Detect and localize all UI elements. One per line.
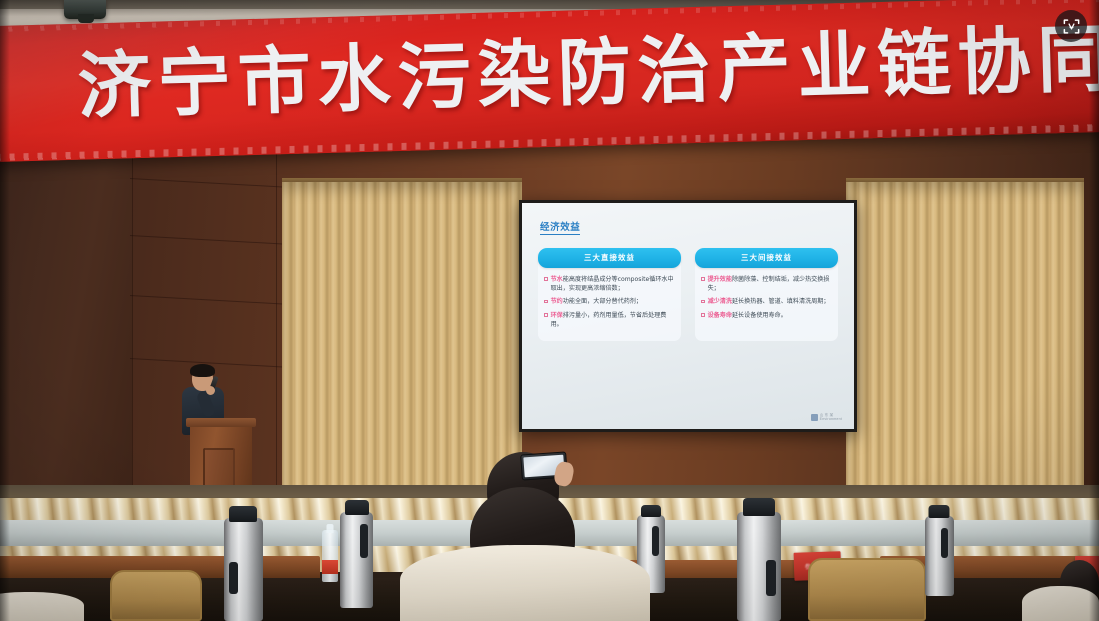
audience-shoulders: [400, 545, 650, 621]
thermos-handle: [229, 562, 238, 594]
speaker-hand: [206, 386, 215, 395]
bullet-item: 设备寿命延长设备使用寿命。: [701, 311, 832, 320]
bullet-keyword: 环保: [551, 312, 563, 319]
projection-screen: 经济效益 三大直接效益 节水能高度将结晶成分等composite循环水中取出，实…: [519, 200, 857, 432]
bullet-keyword: 节水: [551, 276, 563, 283]
bullet-square-icon: [544, 313, 548, 317]
curtain-right: [846, 182, 1084, 502]
thermos-handle: [941, 528, 948, 558]
bullet-item: 环保排污量小，药剂用量低，节省后处理费用。: [544, 311, 675, 329]
logo-text-secondary: Environment: [820, 417, 842, 421]
thermos-cap: [345, 500, 369, 515]
bullet-text: 功能全面，大部分替代药剂；: [563, 298, 642, 305]
slide-company-logo: 山 东 某 Environment: [811, 413, 842, 421]
translate-scan-icon: [1062, 17, 1081, 36]
thermos-cap: [929, 505, 950, 518]
bullet-keyword: 节约: [551, 298, 563, 305]
conference-photo-viewer: 经济效益 三大直接效益 节水能高度将结晶成分等composite循环水中取出，实…: [0, 0, 1099, 621]
bullet-item: 提升效能除菌除藻、控制结垢，减少热交换损失；: [701, 275, 832, 293]
thermos-flask: [925, 516, 954, 596]
logo-mark-icon: [811, 414, 818, 421]
bullet-square-icon: [701, 313, 705, 317]
bullet-text: 延长换热器、管道、填料清洗周期；: [732, 298, 830, 305]
thermos-handle: [360, 524, 368, 558]
bullet-keyword: 提升效能: [708, 276, 732, 283]
bullet-text: 能高度将结晶成分等composite循环水中取出，实现更高浓缩倍数；: [551, 276, 674, 292]
projection-screen-surface: 经济效益 三大直接效益 节水能高度将结晶成分等composite循环水中取出，实…: [522, 203, 854, 429]
translate-scan-button[interactable]: [1055, 10, 1087, 42]
presentation-slide: 经济效益 三大直接效益 节水能高度将结晶成分等composite循环水中取出，实…: [522, 203, 854, 429]
bullet-item: 节水能高度将结晶成分等composite循环水中取出，实现更高浓缩倍数；: [544, 275, 675, 293]
bullet-list: 节水能高度将结晶成分等composite循环水中取出，实现更高浓缩倍数； 节约功…: [544, 275, 675, 329]
bullet-text: 延长设备使用寿命。: [732, 312, 787, 319]
bullet-keyword: 减少清洗: [708, 298, 732, 305]
bullet-keyword: 设备寿命: [708, 312, 732, 319]
banquet-chair: [808, 558, 926, 621]
ceiling-light-fixture-lens: [78, 14, 94, 23]
column-heading-pill: 三大间接效益: [695, 248, 838, 268]
thermos-cap: [743, 498, 775, 516]
slide-column-direct-benefits: 三大直接效益 节水能高度将结晶成分等composite循环水中取出，实现更高浓缩…: [538, 248, 681, 341]
bullet-square-icon: [701, 277, 705, 281]
thermos-flask: [340, 512, 373, 608]
thermos-handle: [652, 526, 659, 556]
bullet-square-icon: [544, 277, 548, 281]
bottle-label: [322, 560, 338, 574]
slide-columns: 三大直接效益 节水能高度将结晶成分等composite循环水中取出，实现更高浓缩…: [538, 248, 838, 341]
bottle-neck: [327, 524, 334, 533]
water-bottle: [322, 530, 338, 582]
podium-top: [186, 418, 256, 427]
column-heading-pill: 三大直接效益: [538, 248, 681, 268]
banquet-chair: [110, 570, 202, 621]
slide-title: 经济效益: [540, 219, 580, 235]
bullet-text: 排污量小，药剂用量低，节省后处理费用。: [551, 312, 667, 328]
bullet-item: 节约功能全面，大部分替代药剂；: [544, 297, 675, 306]
bullet-square-icon: [701, 300, 705, 304]
curtain-left: [282, 182, 522, 502]
bullet-list: 提升效能除菌除藻、控制结垢，减少热交换损失； 减少清洗延长换热器、管道、填料清洗…: [701, 275, 832, 320]
thermos-cap: [641, 505, 661, 517]
bullet-item: 减少清洗延长换热器、管道、填料清洗周期；: [701, 297, 832, 306]
audience-shoulders: [0, 592, 84, 621]
audience-shoulders: [1022, 586, 1099, 621]
thermos-handle: [766, 560, 776, 596]
speaker-hair: [190, 364, 215, 377]
bullet-square-icon: [544, 300, 548, 304]
thermos-cap: [229, 506, 257, 522]
slide-column-indirect-benefits: 三大间接效益 提升效能除菌除藻、控制结垢，减少热交换损失； 减少清洗延长换热器、…: [695, 248, 838, 341]
